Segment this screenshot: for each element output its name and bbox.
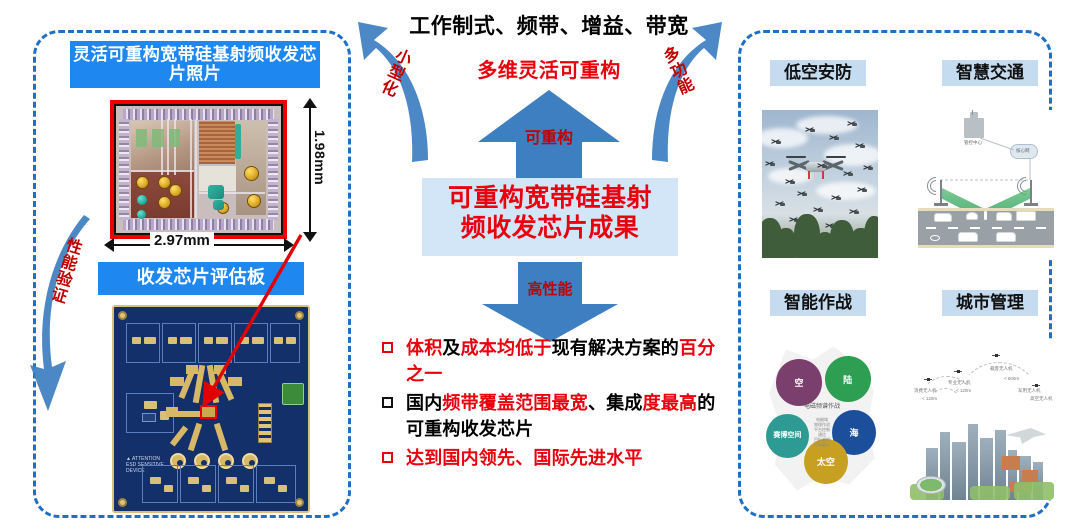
die-trace xyxy=(174,119,176,175)
bullet-seg: 体积 xyxy=(406,338,442,358)
road-graphic xyxy=(918,208,1054,248)
pcb-rf-trace xyxy=(214,365,226,374)
poster-root: 性能验证 灵活可重构宽带硅基射频收发芯片照片 xyxy=(0,0,1080,532)
pcb-component xyxy=(274,337,283,344)
pcb-component xyxy=(240,485,249,492)
die-inductor-trace xyxy=(235,124,242,160)
pcb-mount-hole xyxy=(118,498,127,507)
die-block-pa xyxy=(199,121,235,164)
pcb-rf-trace xyxy=(186,365,198,374)
professional-drone-icon xyxy=(954,370,962,374)
bullet-text: 达到国内领先、国际先进水平 xyxy=(376,446,726,472)
bullet-seg: 现有解决方案的 xyxy=(552,338,679,358)
down-arrow-label: 高性能 xyxy=(482,278,618,299)
die-pad-ring-bottom xyxy=(123,219,275,230)
pcb-component xyxy=(202,485,211,492)
high-performance-down-arrow xyxy=(482,262,618,342)
result-banner-line-1: 可重构宽带硅基射 xyxy=(422,184,678,214)
city-tag: 军用无人机 xyxy=(1018,388,1041,394)
bullet-text: 体积及成本均低于现有解决方案的百分之一 xyxy=(376,336,726,388)
die-cluster xyxy=(213,200,224,210)
pcb-subcircuit xyxy=(218,465,254,503)
combat-domain-land: 陆 xyxy=(825,356,871,402)
city-tag: 消费无人机 xyxy=(914,388,937,394)
die-trace xyxy=(190,119,192,218)
bullet-seg: 达到国内领先、国际先进水平 xyxy=(406,448,643,468)
pcb-component xyxy=(264,477,275,484)
pcb-rf-trace xyxy=(228,377,242,386)
die-height-label: 1.98mm xyxy=(312,130,328,185)
pcb-component xyxy=(216,337,228,344)
bullet-seg: 、集成 xyxy=(588,393,643,413)
smart-traffic-image: 管控中心 核心网 xyxy=(918,110,1054,258)
city-tag: 载客无人机 xyxy=(990,366,1013,372)
consumer-drone-icon xyxy=(924,378,932,382)
miniaturization-arrow xyxy=(358,22,444,162)
pcb-component xyxy=(226,477,237,484)
bullet-seg: 及 xyxy=(442,338,460,358)
pcb-mount-hole xyxy=(118,311,127,320)
pcb-subcircuit xyxy=(180,465,216,503)
bullet-checkbox-icon xyxy=(382,452,393,463)
chip-photo-title: 灵活可重构宽带硅基射频收发芯片照片 xyxy=(70,41,320,88)
pcb-component xyxy=(132,337,141,344)
combat-domain-air: 空 xyxy=(776,359,822,405)
result-banner: 可重构宽带硅基射 频收发芯片成果 xyxy=(422,178,678,256)
app-label-intelligent-combat: 智能作战 xyxy=(770,290,866,316)
die-trace xyxy=(195,119,197,218)
achievement-bullet-list: 体积及成本均低于现有解决方案的百分之一 国内频带覆盖范围最宽、集成度最高的可重构… xyxy=(376,336,726,475)
city-tag: < 600m xyxy=(1004,376,1019,381)
city-tag: < 120m xyxy=(956,388,971,393)
combat-domains-image: 空 陆 海 太空 赛博空间 电磁频谱作战 电磁域物理作战平台控制通信目标感知目标… xyxy=(758,340,886,500)
pcb-component xyxy=(240,337,249,344)
pcb-rf-trace xyxy=(166,407,178,417)
app-label-low-altitude-security: 低空安防 xyxy=(770,60,866,86)
pcb-rf-trace xyxy=(214,423,228,451)
bullet-seg: 国内 xyxy=(406,393,442,413)
pcb-header-pins xyxy=(258,403,272,443)
pcb-component xyxy=(150,477,161,484)
pcb-component xyxy=(144,401,157,409)
pcb-rf-trace xyxy=(170,377,184,386)
die-pad-ring-left xyxy=(119,119,129,221)
die-trace xyxy=(161,119,163,175)
result-banner-line-2: 频收发芯片成果 xyxy=(422,214,678,244)
die-cap xyxy=(169,129,181,147)
pcb-component xyxy=(188,477,199,484)
evaluation-board-photo: ▲ ATTENTIONESD SENSITIVEDEVICE xyxy=(112,305,310,513)
pcb-component xyxy=(252,337,264,344)
city-tag: 专业无人机 xyxy=(948,380,971,386)
die-cluster xyxy=(208,185,224,199)
up-arrow-label: 可重构 xyxy=(478,124,620,148)
combat-center-title: 电磁频谱作战 xyxy=(800,404,844,412)
pcb-component xyxy=(180,337,192,344)
bullet-checkbox-icon xyxy=(382,342,393,353)
bullet-checkbox-icon xyxy=(382,397,393,408)
die-photo xyxy=(110,100,287,239)
list-item: 达到国内领先、国际先进水平 xyxy=(376,446,726,472)
pcb-ic xyxy=(142,413,156,422)
die-trace xyxy=(167,119,169,175)
list-item: 国内频带覆盖范围最宽、集成度最高的可重构收发芯片 xyxy=(376,391,726,443)
smart-city-image: 消费无人机 < 120m 专业无人机 < 120m 载客无人机 < 600m 军… xyxy=(910,340,1054,500)
pcb-component xyxy=(278,485,287,492)
city-tag: 高空无人机 xyxy=(1030,396,1053,402)
bullet-seg: 度最高 xyxy=(643,393,698,413)
pcb-component xyxy=(286,337,296,344)
pcb-mount-hole xyxy=(295,311,304,320)
passenger-drone-icon xyxy=(992,354,1000,358)
bullet-seg: 成本均低于 xyxy=(461,338,552,358)
mounted-die-highlight xyxy=(200,405,217,419)
pcb-component xyxy=(204,337,213,344)
bullet-text: 国内频带覆盖范围最宽、集成度最高的可重构收发芯片 xyxy=(376,391,726,443)
bullet-seg: 频带覆盖范围最宽 xyxy=(442,393,588,413)
pcb-component xyxy=(168,337,177,344)
app-label-smart-transportation: 智慧交通 xyxy=(942,60,1038,86)
combat-center-detail: 电磁域物理作战平台控制通信目标感知目标确认 xyxy=(802,417,843,447)
pcb-mount-hole xyxy=(295,498,304,507)
list-item: 体积及成本均低于现有解决方案的百分之一 xyxy=(376,336,726,388)
die-width-label: 2.97mm xyxy=(150,232,214,249)
die-bond-pad xyxy=(159,177,170,188)
die-pad-ring-right xyxy=(268,119,278,221)
drone-swarm-image xyxy=(762,110,878,258)
die-cap xyxy=(136,129,148,147)
pcb-power-connector xyxy=(282,383,304,405)
eval-board-title: 收发芯片评估板 xyxy=(98,262,304,295)
stadium-icon xyxy=(916,476,946,494)
pcb-subcircuit xyxy=(256,465,296,503)
pcb-rf-trace xyxy=(188,423,202,451)
die-bond-pad xyxy=(248,195,260,207)
app-label-city-management: 城市管理 xyxy=(942,290,1038,316)
die-trace xyxy=(131,170,194,172)
die-bond-pad xyxy=(245,167,258,180)
pcb-component xyxy=(144,337,156,344)
die-photo-inner xyxy=(116,106,281,233)
die-pad-ring-top xyxy=(123,109,275,120)
pcb-component xyxy=(164,485,173,492)
die-bond-pad xyxy=(137,210,146,219)
die-cap xyxy=(152,129,164,147)
city-tag: < 120m xyxy=(922,396,937,401)
lead-drone xyxy=(790,154,842,180)
pcb-subcircuit xyxy=(142,465,178,503)
